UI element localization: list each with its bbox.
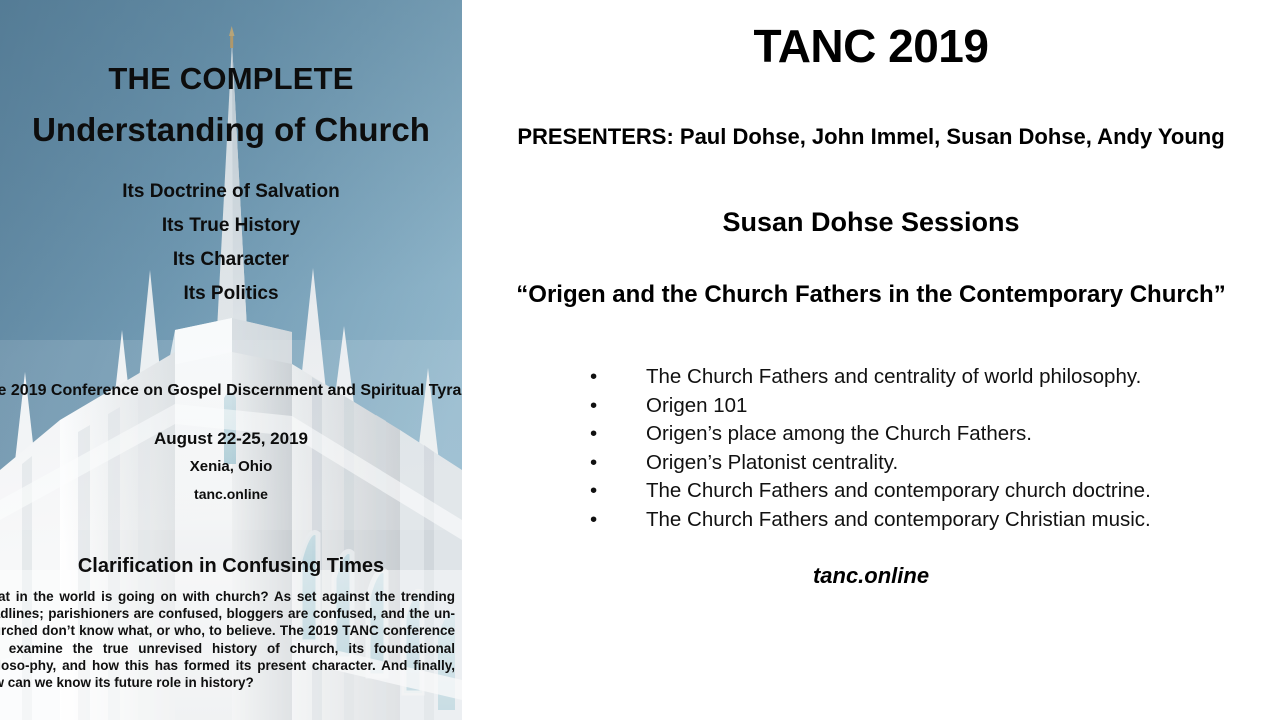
- bullet-icon: •: [590, 363, 604, 392]
- list-item-label: Origen’s place among the Church Fathers.: [646, 422, 1032, 445]
- poster-subtitle-2: Its True History: [0, 215, 462, 237]
- list-item-label: Origen 101: [646, 394, 747, 417]
- page-title: TANC 2019: [462, 19, 1280, 73]
- list-item: • The Church Fathers and contemporary ch…: [590, 477, 1250, 506]
- poster-conference-line: The 2019 Conference on Gospel Discernmen…: [0, 382, 462, 400]
- poster-url: tanc.online: [0, 486, 462, 502]
- poster-subtitle-1: Its Doctrine of Salvation: [0, 181, 462, 203]
- bullet-icon: •: [590, 420, 604, 449]
- list-item: • Origen 101: [590, 392, 1250, 421]
- bullet-icon: •: [590, 477, 604, 506]
- bullet-icon: •: [590, 449, 604, 478]
- bullet-icon: •: [590, 506, 604, 535]
- footer-url: tanc.online: [462, 563, 1280, 589]
- poster-subtitle-4: Its Politics: [0, 283, 462, 305]
- conference-poster-image: THE COMPLETE Understanding of Church Its…: [0, 0, 462, 720]
- session-topics-list: • The Church Fathers and centrality of w…: [590, 363, 1250, 535]
- session-title: “Origen and the Church Fathers in the Co…: [462, 281, 1280, 309]
- list-item: • Origen’s place among the Church Father…: [590, 420, 1250, 449]
- poster-title-line-1: THE COMPLETE: [0, 61, 462, 97]
- list-item-label: The Church Fathers and contemporary chur…: [646, 479, 1151, 502]
- presenters-line: PRESENTERS: Paul Dohse, John Immel, Susa…: [462, 124, 1280, 150]
- poster-city: Xenia, Ohio: [0, 458, 462, 475]
- poster-paragraph: What in the world is going on with churc…: [0, 588, 455, 691]
- poster-subtitle-3: Its Character: [0, 249, 462, 271]
- slide-content-panel: TANC 2019 PRESENTERS: Paul Dohse, John I…: [462, 0, 1280, 720]
- list-item: • Origen’s Platonist centrality.: [590, 449, 1250, 478]
- list-item-label: The Church Fathers and centrality of wor…: [646, 365, 1141, 388]
- poster-tagline: Clarification in Confusing Times: [0, 555, 462, 578]
- poster-date: August 22-25, 2019: [0, 429, 462, 449]
- list-item-label: The Church Fathers and contemporary Chri…: [646, 508, 1151, 531]
- poster-title-line-2: Understanding of Church: [0, 111, 462, 149]
- poster-text-layer: THE COMPLETE Understanding of Church Its…: [0, 0, 462, 720]
- list-item: • The Church Fathers and centrality of w…: [590, 363, 1250, 392]
- list-item-label: Origen’s Platonist centrality.: [646, 451, 898, 474]
- presentation-slide: THE COMPLETE Understanding of Church Its…: [0, 0, 1280, 720]
- list-item: • The Church Fathers and contemporary Ch…: [590, 506, 1250, 535]
- bullet-icon: •: [590, 392, 604, 421]
- sessions-heading: Susan Dohse Sessions: [462, 207, 1280, 238]
